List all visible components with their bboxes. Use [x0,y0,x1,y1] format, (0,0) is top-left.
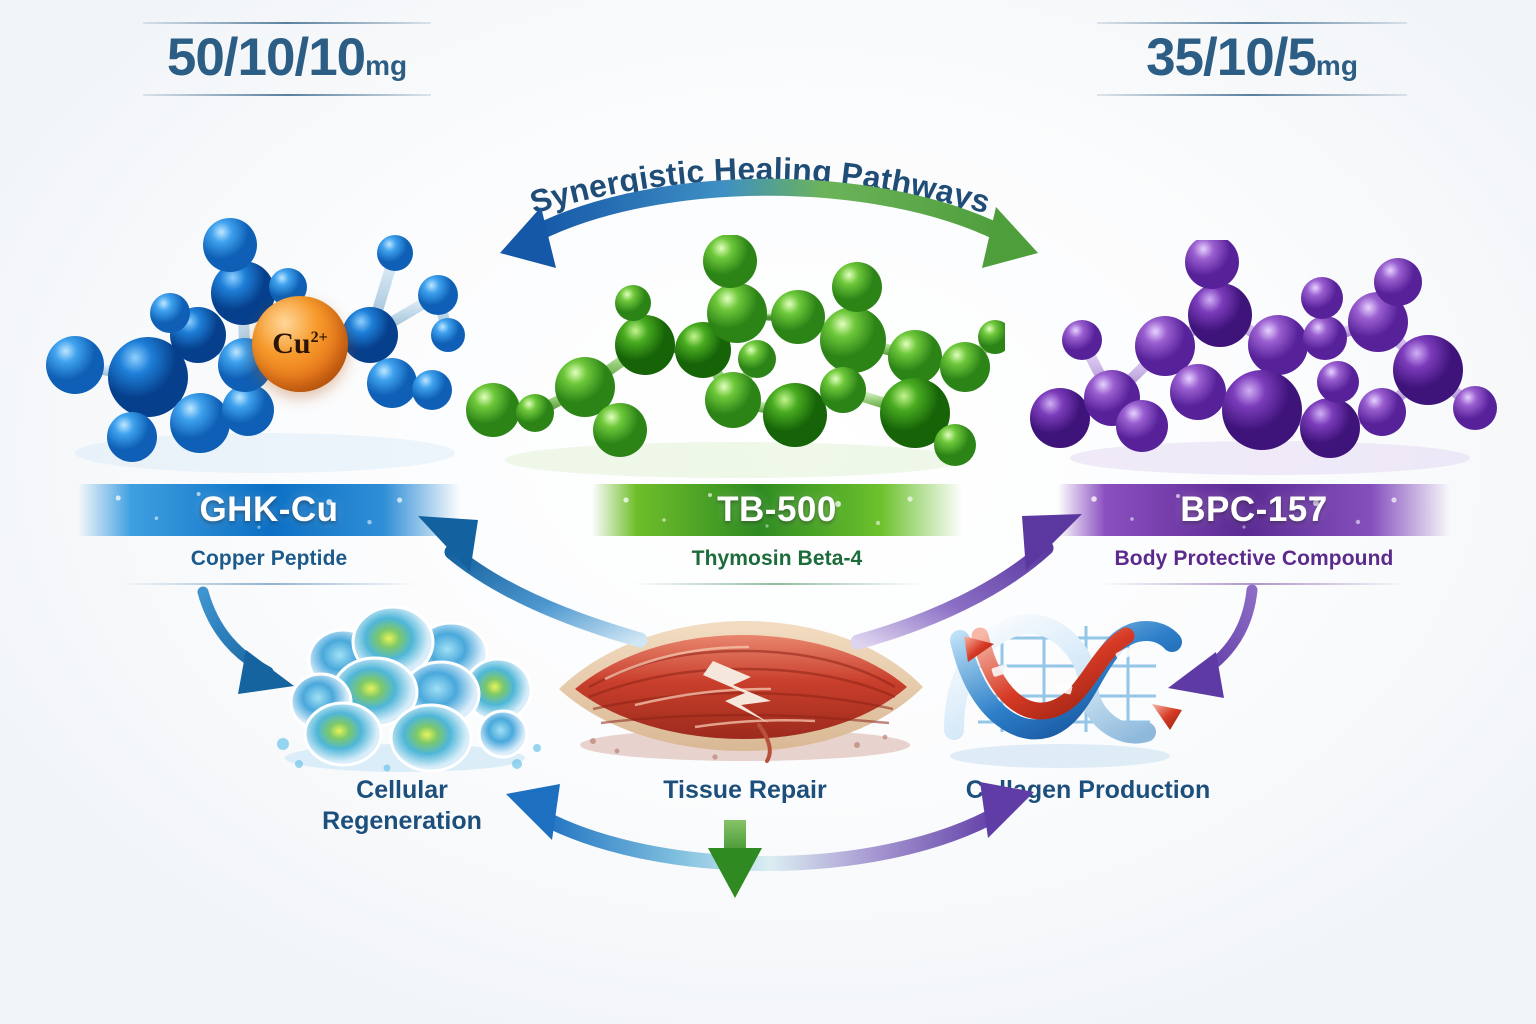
compound-subtitle-bpc: Body Protective Compound [1058,536,1450,571]
compound-name-ghk: GHK-Cu [199,490,338,530]
compound-name-tb: TB-500 [717,490,837,530]
tb500-down-arrow [708,820,762,898]
outcome-label-line-1: Cellular Regeneration [268,775,536,836]
compound-rule-tb [633,583,922,585]
dose-unit-right: mg [1316,50,1358,81]
copper-ion-badge: Cu2+ [252,296,348,392]
cell-cluster-icon [255,598,550,778]
dose-rule-bottom-right [1097,94,1407,96]
compound-rule-ghk [120,583,418,585]
compound-card-bpc-157[interactable]: BPC-157 Body Protective Compound [1058,484,1450,585]
compound-card-ghk-cu[interactable]: GHK-Cu Copper Peptide [78,484,460,585]
copper-ion-label: Cu2+ [272,327,327,361]
infographic-canvas: 50/10/10mg 35/10/5mg Synergistic Healing… [0,0,1536,1024]
page-title: Synergistic Healing Pathways [440,128,1080,248]
dose-number-left: 50/10/10 [167,28,365,87]
outcome-label-tissue-repair: Tissue Repair [600,775,890,806]
compound-name-band-ghk: GHK-Cu [78,484,460,536]
dose-header-right: 35/10/5mg [1097,22,1407,96]
dose-rule-bottom [143,94,431,96]
outcome-label-cellular-regeneration: Cellular Regeneration [268,775,536,836]
outcome-label-collagen-production: Collagen Production [928,775,1248,806]
compound-subtitle-tb: Thymosin Beta-4 [592,536,962,571]
molecule-bpc-157 [1030,240,1510,485]
dna-helix-icon [920,600,1200,775]
compound-name-bpc: BPC-157 [1180,490,1327,530]
dose-header-left: 50/10/10mg [143,22,431,96]
compound-subtitle-ghk: Copper Peptide [78,536,460,571]
dose-number-right: 35/10/5 [1146,28,1316,87]
compound-name-band-tb: TB-500 [592,484,962,536]
dose-value-right: 35/10/5mg [1097,24,1407,94]
dose-value-left: 50/10/10mg [143,24,431,94]
page-title-text: Synergistic Healing Pathways [526,151,994,220]
compound-card-tb-500[interactable]: TB-500 Thymosin Beta-4 [592,484,962,585]
compound-name-band-bpc: BPC-157 [1058,484,1450,536]
dose-unit-left: mg [365,50,407,81]
compound-rule-bpc [1101,583,1407,585]
svg-text:Synergistic Healing Pathways: Synergistic Healing Pathways [526,151,994,220]
molecule-tb-500 [465,235,1005,485]
muscle-tissue-icon [545,605,935,770]
